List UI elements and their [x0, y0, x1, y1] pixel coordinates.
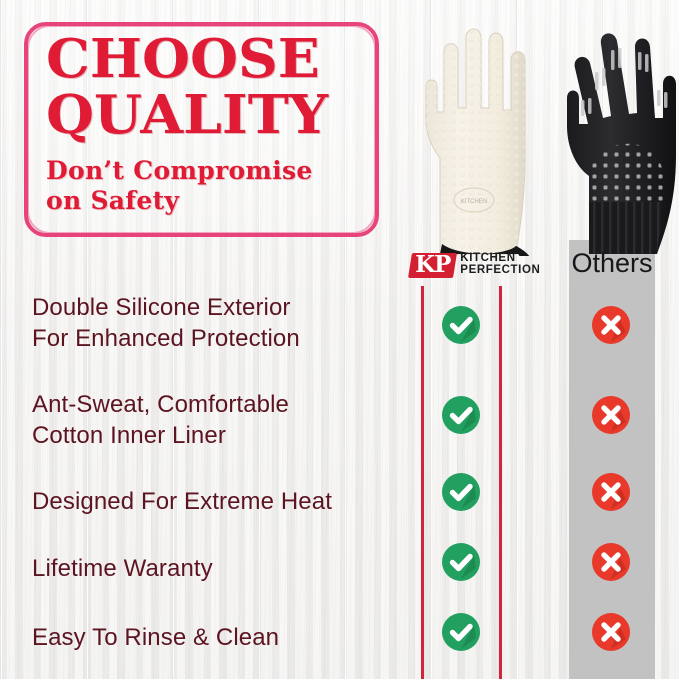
check-circle-icon: [440, 394, 482, 436]
brand-column-divider-right: [499, 286, 502, 679]
brand-column-divider-left: [421, 286, 424, 679]
cross-circle-icon: [590, 541, 632, 583]
brand-monogram-text: KP: [415, 253, 450, 277]
headline-line-1: CHOOSE: [46, 34, 389, 85]
brand-name: KITCHEN PERFECTION: [460, 253, 540, 277]
competitor-label: Others: [569, 248, 655, 279]
feature-item-4: Lifetime Waranty: [32, 553, 213, 584]
feature-item-5: Easy To Rinse & Clean: [32, 622, 279, 653]
check-circle-icon: [440, 304, 482, 346]
cross-circle-icon: [590, 304, 632, 346]
brand-product-image: KITCHEN: [404, 8, 552, 256]
svg-text:KITCHEN: KITCHEN: [461, 199, 487, 205]
headline-line-3: Don’t Compromise: [46, 157, 376, 185]
infographic-canvas: KITCHEN: [0, 0, 679, 679]
competitor-product-image: [545, 6, 679, 256]
brand-monogram: KP: [408, 253, 457, 278]
headline-text-group: CHOOSE QUALITY Don’t Compromise on Safet…: [46, 34, 376, 215]
feature-item-3: Designed For Extreme Heat: [32, 486, 332, 517]
feature-item-2: Ant-Sweat, ComfortableCotton Inner Liner: [32, 389, 289, 451]
headline-line-4: on Safety: [46, 187, 376, 215]
check-circle-icon: [440, 611, 482, 653]
brand-name-line-2: PERFECTION: [460, 265, 540, 277]
feature-item-1: Double Silicone ExteriorFor Enhanced Pro…: [32, 292, 300, 354]
cross-circle-icon: [590, 394, 632, 436]
check-circle-icon: [440, 541, 482, 583]
cross-circle-icon: [590, 471, 632, 513]
check-circle-icon: [440, 471, 482, 513]
headline-line-2: QUALITY: [46, 90, 389, 141]
cross-circle-icon: [590, 611, 632, 653]
brand-logo: KP KITCHEN PERFECTION: [410, 250, 540, 280]
